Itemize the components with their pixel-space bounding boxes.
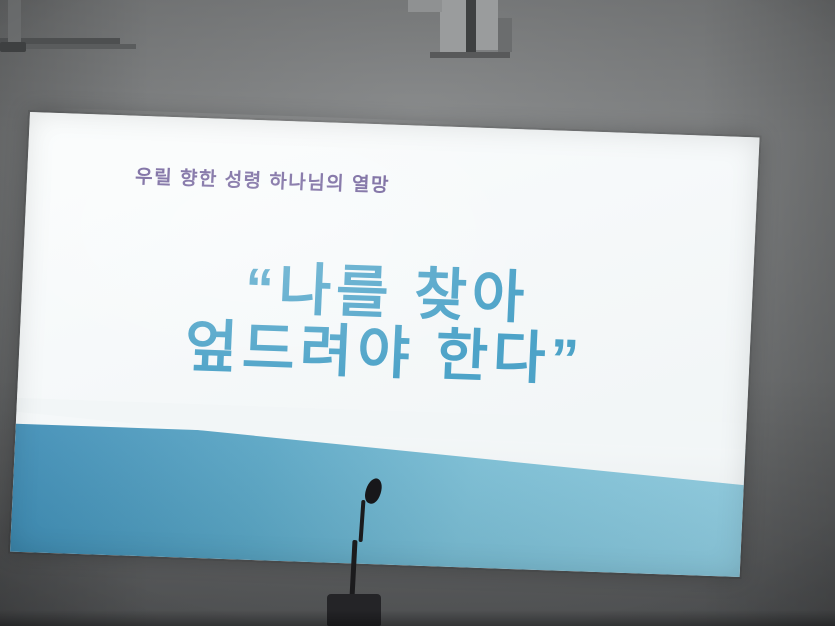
projection-screen: 우릴 향한 성령 하나님의 열망 “나를 찾아 엎드려야 한다” bbox=[0, 0, 835, 626]
photo-scene: 우릴 향한 성령 하나님의 열망 “나를 찾아 엎드려야 한다” bbox=[0, 0, 835, 626]
slide-band-shading bbox=[10, 424, 745, 577]
floor-shadow bbox=[0, 610, 835, 626]
slide-surface: 우릴 향한 성령 하나님의 열망 “나를 찾아 엎드려야 한다” bbox=[10, 112, 760, 577]
